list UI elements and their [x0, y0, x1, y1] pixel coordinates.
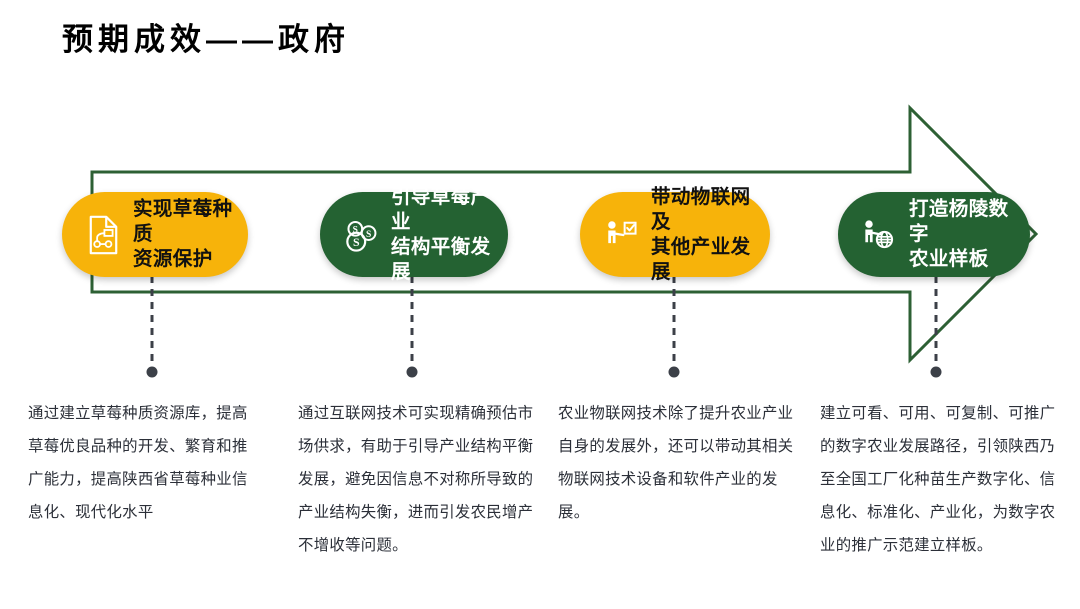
person-globe-icon: [857, 210, 901, 260]
stage-pill-label-1: 实现草莓种质 资源保护: [133, 197, 234, 272]
stage-pill-label-3: 带动物联网及 其他产业发展: [651, 185, 756, 285]
stage-caption-2: 通过互联网技术可实现精确预估市场供求，有助于引导产业结构平衡发展，避免因信息不对…: [298, 397, 534, 562]
svg-text:S: S: [366, 229, 371, 239]
document-flowchart-icon: [81, 210, 125, 260]
svg-text:S: S: [353, 235, 360, 249]
stage-caption-1: 通过建立草莓种质资源库，提高草莓优良品种的开发、繁育和推广能力，提高陕西省草莓种…: [28, 397, 260, 529]
coins-money-icon: S S S: [339, 210, 383, 260]
stage-caption-4: 建立可看、可用、可复制、可推广的数字农业发展路径，引领陕西乃至全国工厂化种苗生产…: [820, 397, 1064, 562]
stage-pill-2[interactable]: S S S 引导草莓产业 结构平衡发展: [320, 192, 508, 277]
stage-pill-1[interactable]: 实现草莓种质 资源保护: [62, 192, 248, 277]
stage-pill-4[interactable]: 打造杨陵数字 农业样板: [838, 192, 1030, 277]
person-checkbox-icon: [599, 210, 643, 260]
stage-pill-3[interactable]: 带动物联网及 其他产业发展: [580, 192, 770, 277]
stage-pill-label-4: 打造杨陵数字 农业样板: [909, 197, 1016, 272]
stage-pill-label-2: 引导草莓产业 结构平衡发展: [391, 185, 494, 285]
stage-caption-3: 农业物联网技术除了提升农业产业自身的发展外，还可以带动其相关物联网技术设备和软件…: [558, 397, 796, 529]
